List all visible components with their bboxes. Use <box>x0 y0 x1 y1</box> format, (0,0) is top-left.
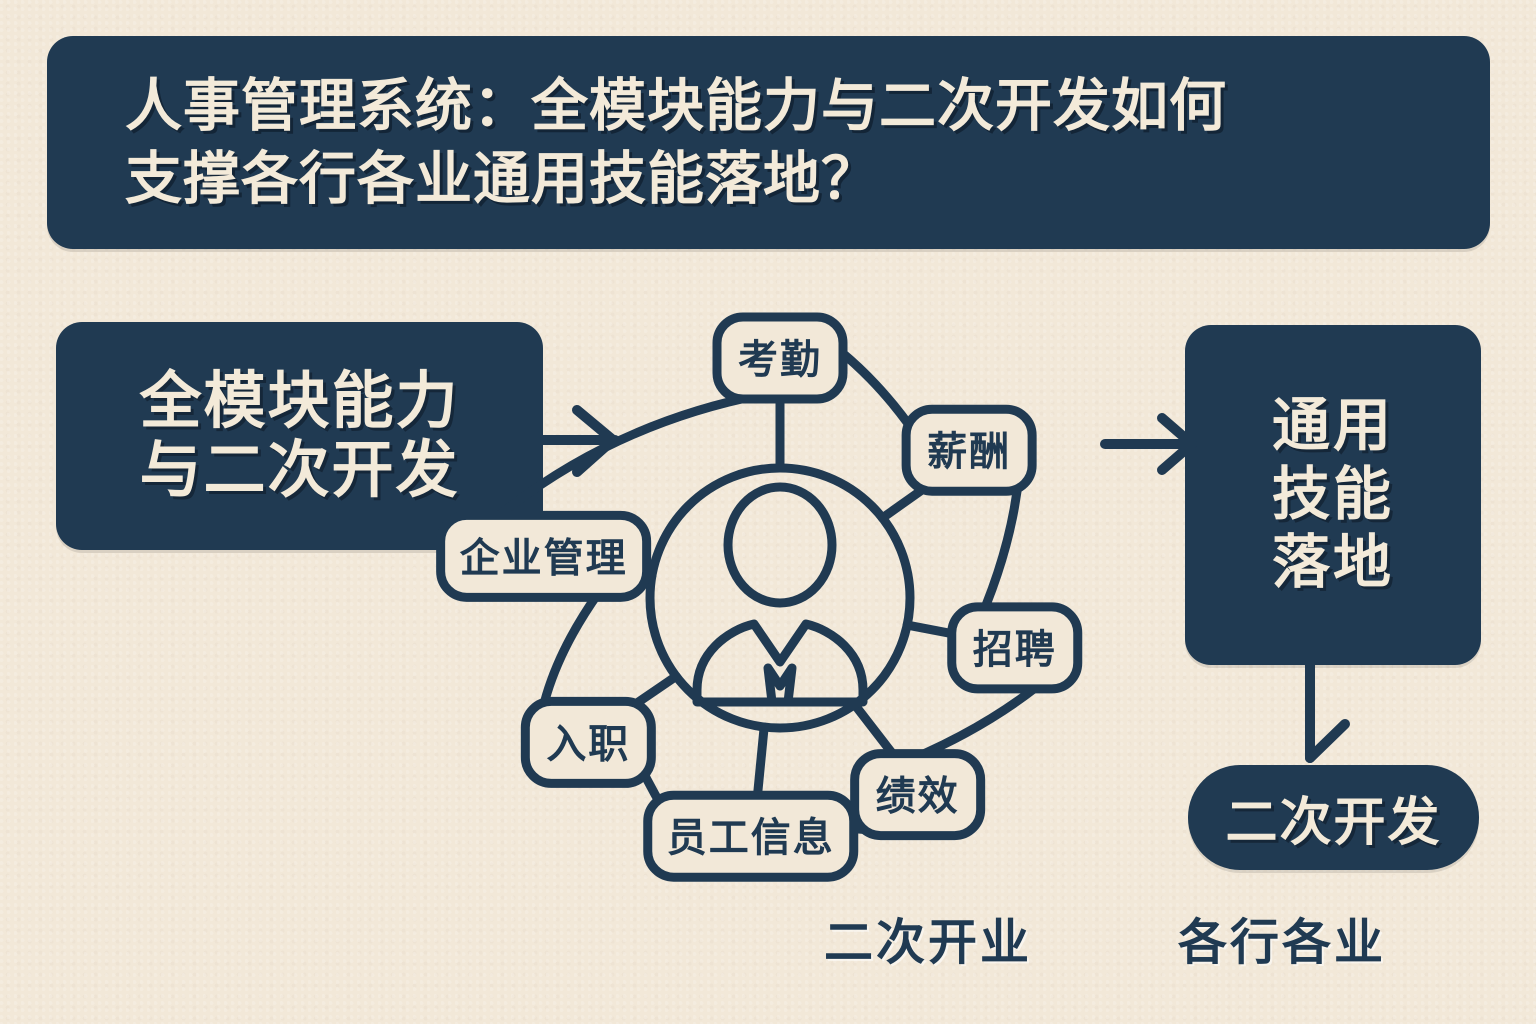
secondary-development-box: 二次开发 <box>1188 765 1479 870</box>
module-node-label-employee-info: 员工信息 <box>667 816 835 860</box>
title-line-1: 人事管理系统：全模块能力与二次开发如何 <box>125 70 1490 143</box>
title-banner: 人事管理系统：全模块能力与二次开发如何 支撑各行各业通用技能落地？ <box>47 36 1490 249</box>
outcome-box-label: 二次开发 <box>1225 780 1441 855</box>
module-node-label-recruitment: 招聘 <box>973 628 1057 672</box>
person-user-icon <box>697 487 863 702</box>
right-box-line-3: 落地 <box>1272 529 1394 597</box>
hub-and-spoke-diagram: 考勤薪酬招聘绩效员工信息入职企业管理 <box>330 258 1230 918</box>
right-box-line-1: 通用 <box>1272 392 1394 460</box>
output-arrow-icon <box>1105 418 1192 470</box>
module-node-label-attendance: 考勤 <box>738 338 822 382</box>
module-node-label-compensation: 薪酬 <box>927 430 1011 474</box>
module-node-label-onboarding: 入职 <box>546 722 630 766</box>
down-arrow-icon <box>1290 650 1380 780</box>
module-node-label-enterprise-mgmt: 企业管理 <box>460 535 628 580</box>
module-node-label-performance: 绩效 <box>876 775 960 819</box>
input-arrow-icon <box>518 410 615 472</box>
title-line-2: 支撑各行各业通用技能落地？ <box>125 143 1490 216</box>
right-box-line-2: 技能 <box>1272 461 1394 529</box>
